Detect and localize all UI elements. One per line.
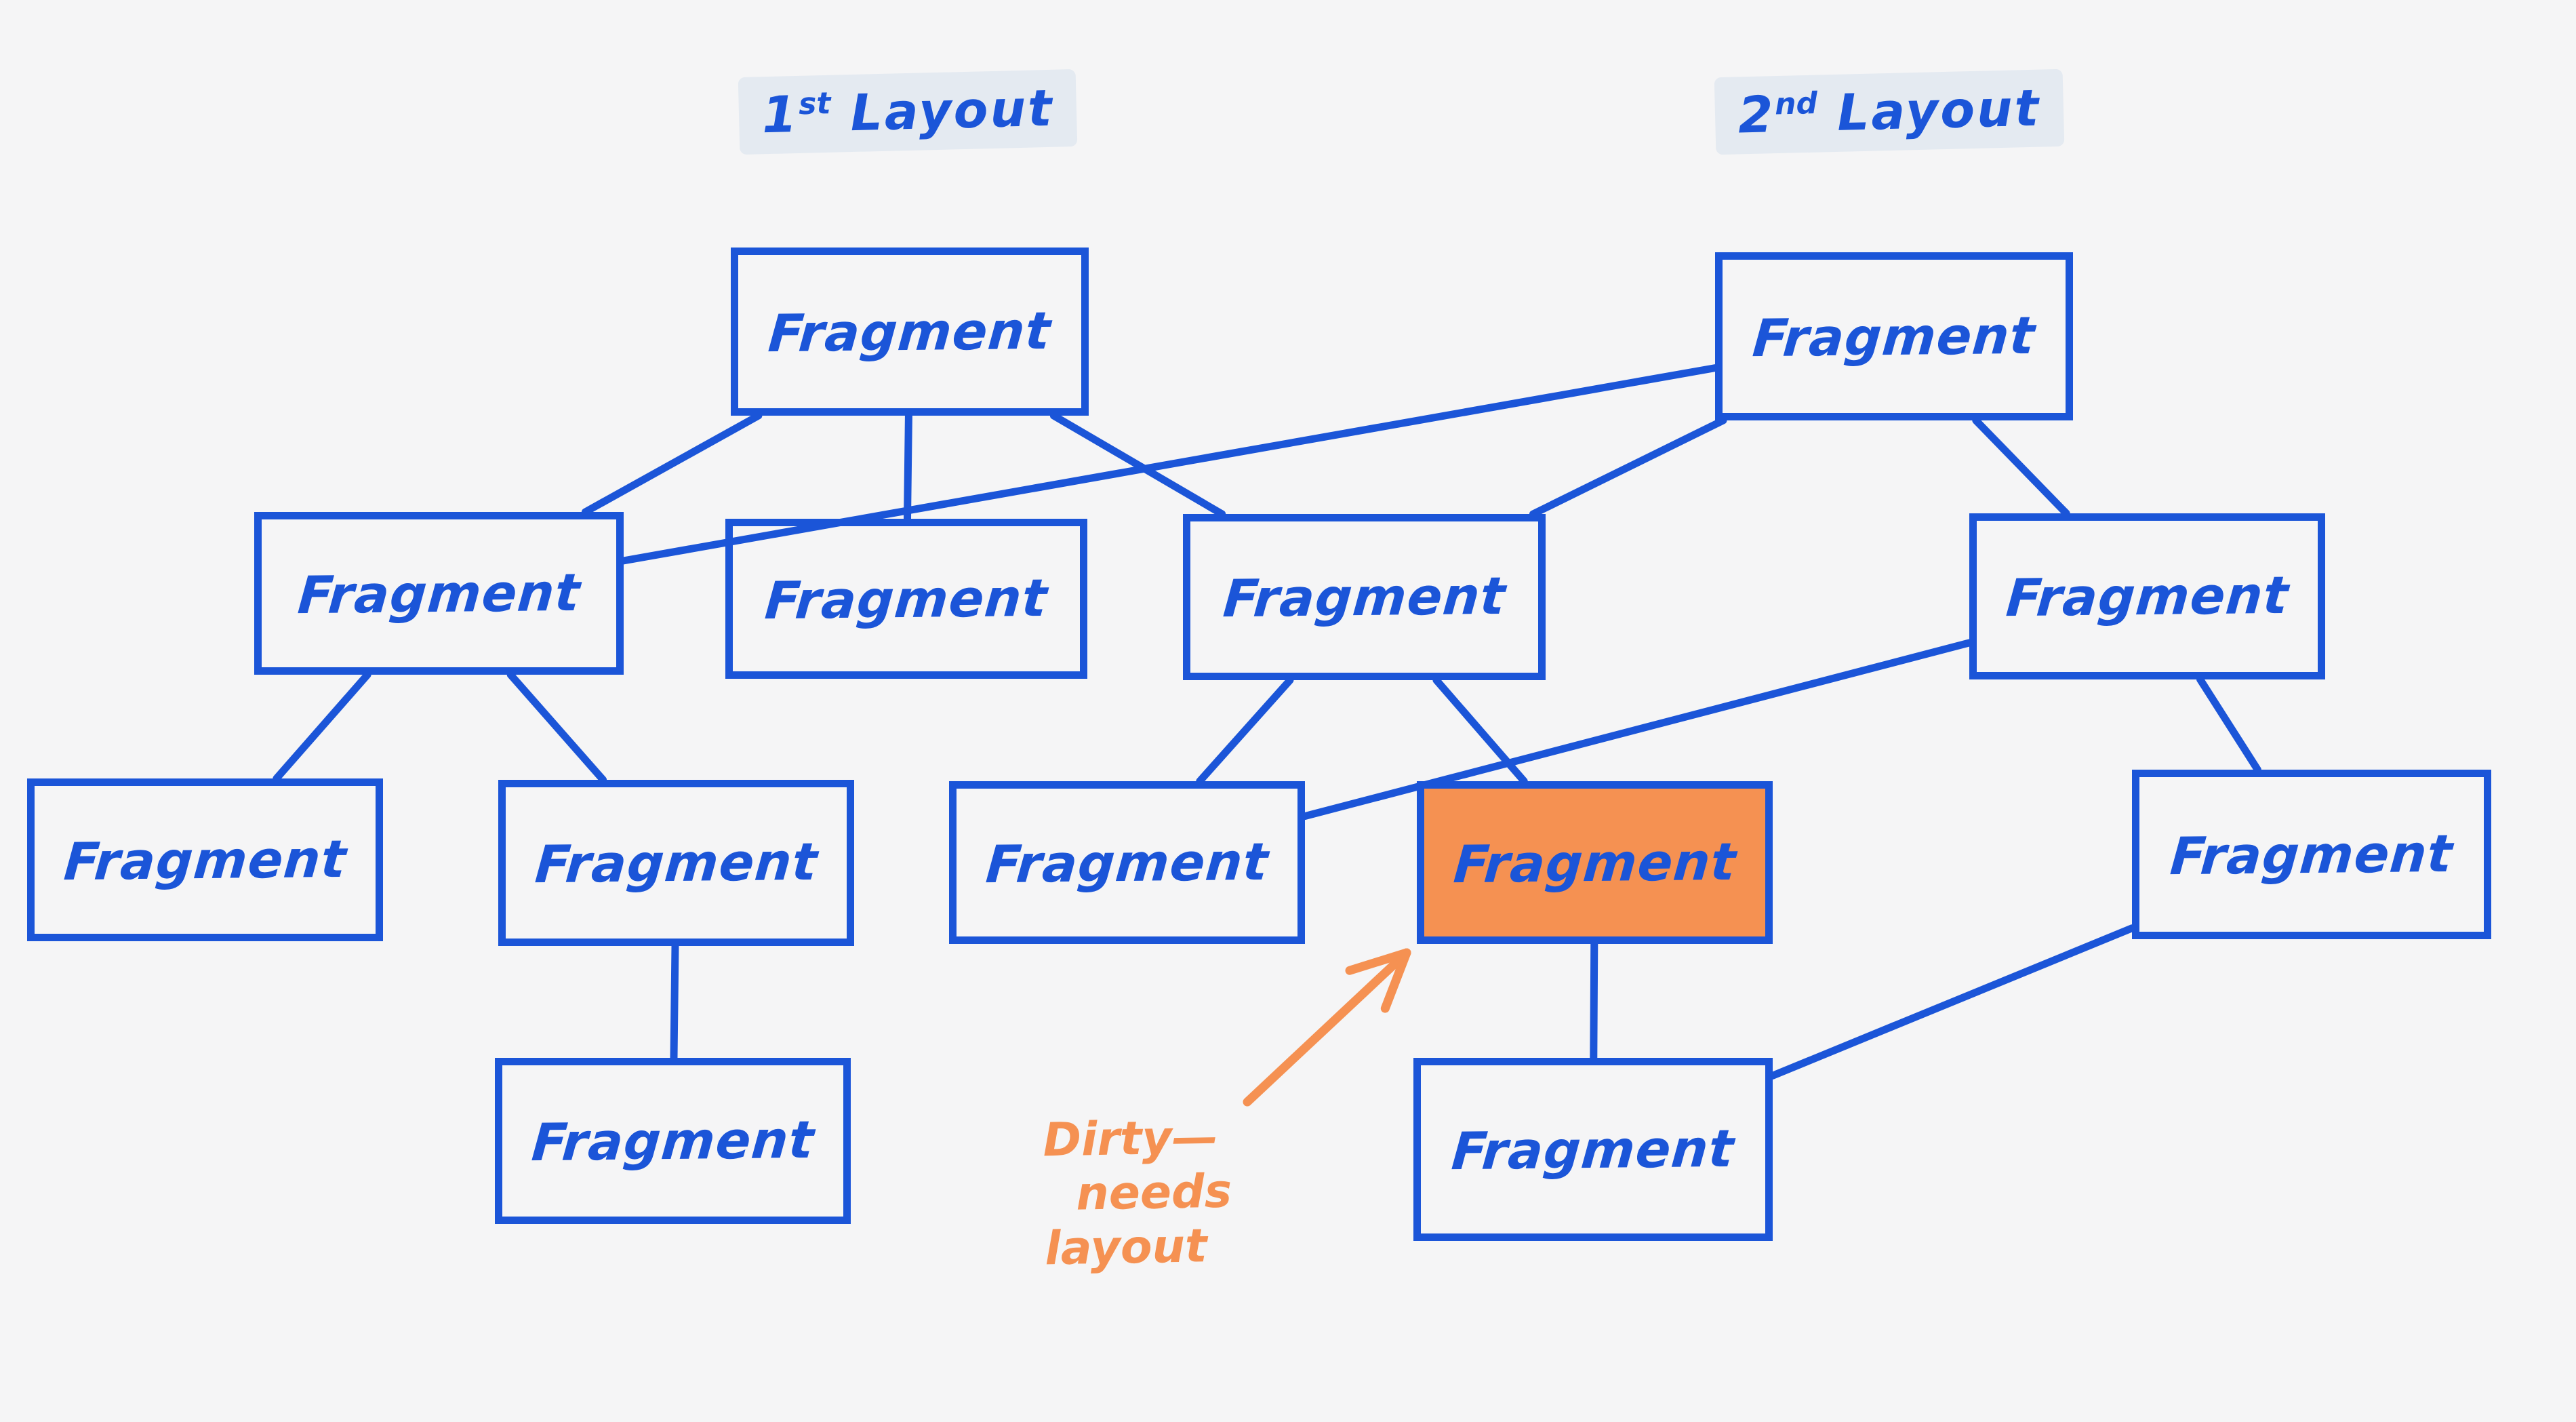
fragment-node[interactable]: Fragment bbox=[1183, 514, 1546, 680]
fragment-node[interactable]: Fragment bbox=[731, 248, 1089, 416]
dirty-arrow-icon bbox=[1247, 953, 1407, 1102]
fragment-node[interactable]: Fragment bbox=[949, 781, 1305, 944]
tree-edge bbox=[1053, 416, 1222, 514]
edge-layer bbox=[0, 0, 2576, 1422]
fragment-node-label: Fragment bbox=[296, 561, 582, 625]
tree-edge bbox=[585, 416, 758, 512]
diagram-canvas: 1st Layout 2nd Layout FragmentFragmentFr… bbox=[0, 0, 2576, 1422]
fragment-node-label: Fragment bbox=[2004, 565, 2291, 628]
fragment-node-label: Fragment bbox=[62, 828, 348, 891]
dirty-annotation-line: needs bbox=[1043, 1165, 1232, 1223]
title-first-layout: 1st Layout bbox=[738, 69, 1078, 155]
tree-edge bbox=[510, 675, 603, 780]
fragment-node[interactable]: Fragment bbox=[1413, 1058, 1773, 1241]
tree-edge bbox=[2200, 679, 2258, 770]
fragment-node-label: Fragment bbox=[1451, 831, 1738, 894]
dirty-annotation-line: layout bbox=[1045, 1219, 1234, 1277]
fragment-node-label: Fragment bbox=[766, 300, 1053, 363]
tree-edge bbox=[1594, 944, 1594, 1058]
tree-edge bbox=[277, 675, 367, 778]
fragment-node[interactable]: Fragment bbox=[1715, 252, 2073, 420]
cross-layout-edge bbox=[1773, 928, 2132, 1076]
dirty-annotation: Dirty— needslayout bbox=[1043, 1111, 1233, 1278]
tree-edge bbox=[674, 946, 675, 1058]
fragment-node[interactable]: Fragment bbox=[725, 519, 1087, 679]
tree-edge bbox=[1976, 420, 2066, 513]
title-second-layout: 2nd Layout bbox=[1714, 69, 2065, 155]
fragment-node-label: Fragment bbox=[984, 831, 1270, 894]
fragment-node-dirty[interactable]: Fragment bbox=[1417, 781, 1773, 944]
fragment-node[interactable]: Fragment bbox=[498, 780, 854, 946]
cross-layout-edge bbox=[1533, 420, 1723, 514]
fragment-node-label: Fragment bbox=[1449, 1118, 1736, 1181]
fragment-node-label: Fragment bbox=[763, 567, 1049, 630]
tree-edge bbox=[907, 416, 908, 519]
fragment-node-label: Fragment bbox=[1750, 304, 2037, 368]
fragment-node-label: Fragment bbox=[533, 831, 820, 894]
fragment-node-label: Fragment bbox=[2168, 823, 2455, 886]
dirty-annotation-line: Dirty— bbox=[1043, 1111, 1232, 1168]
fragment-node[interactable]: Fragment bbox=[254, 512, 624, 675]
fragment-node[interactable]: Fragment bbox=[1969, 513, 2325, 679]
fragment-node-label: Fragment bbox=[529, 1109, 816, 1172]
fragment-node-label: Fragment bbox=[1221, 566, 1508, 629]
fragment-node[interactable]: Fragment bbox=[495, 1058, 851, 1224]
fragment-node[interactable]: Fragment bbox=[2132, 770, 2491, 939]
tree-edge bbox=[1200, 680, 1290, 781]
fragment-node[interactable]: Fragment bbox=[27, 778, 383, 941]
